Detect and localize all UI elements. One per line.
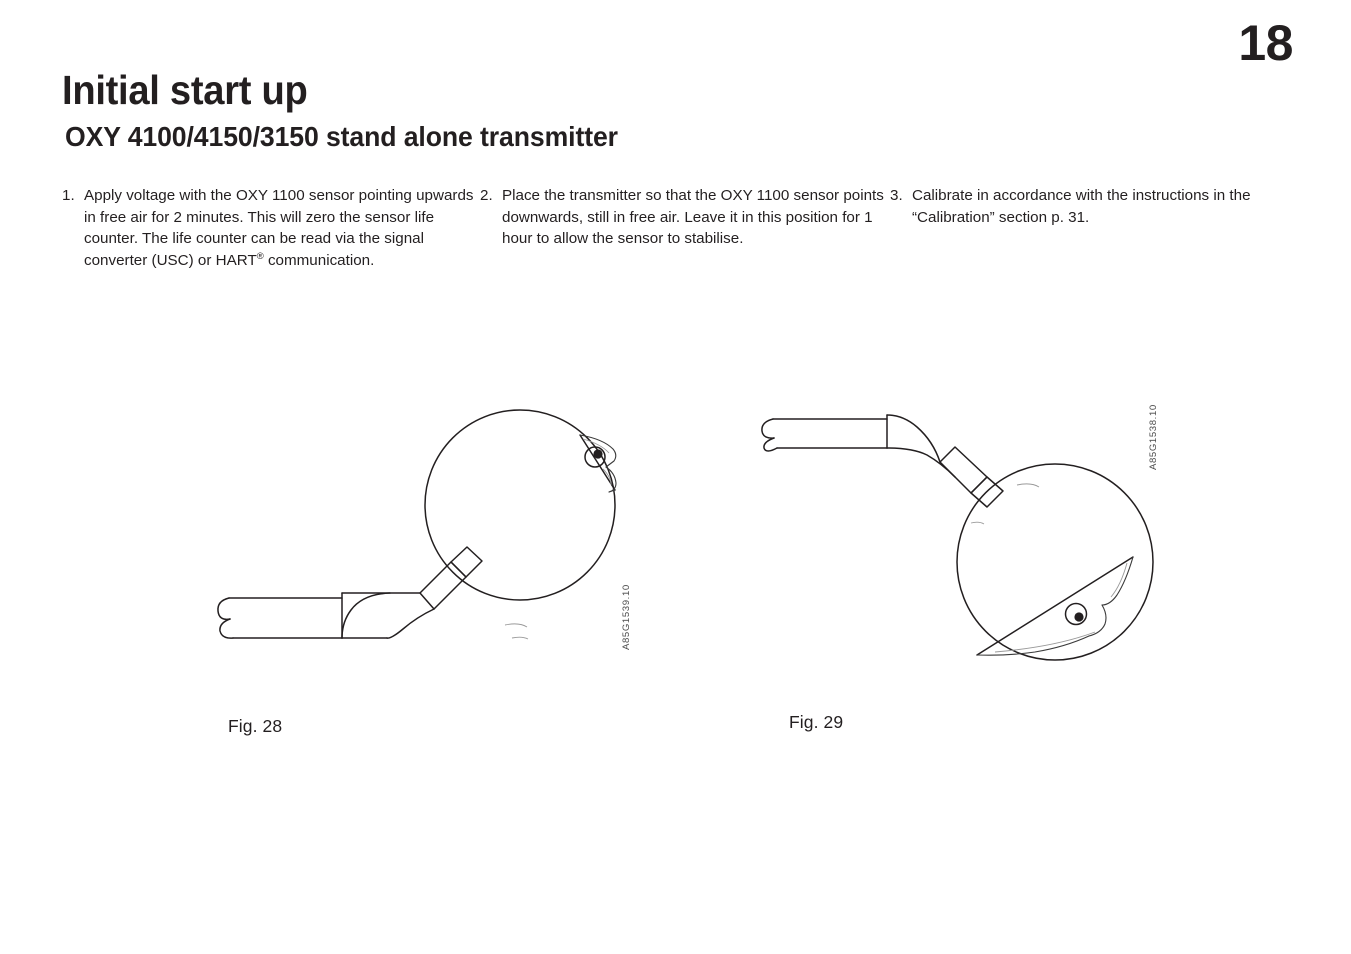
sensor-collar-lower xyxy=(1089,605,1106,636)
sensor-port-dot xyxy=(1074,612,1083,621)
elbow-outer-wall xyxy=(342,593,420,638)
tube-end-bore-upper xyxy=(218,598,230,619)
figure-28-caption: Fig. 28 xyxy=(228,716,282,737)
transmitter-sensor-up-illustration xyxy=(205,395,635,665)
document-page: 18 Initial start up OXY 4100/4150/3150 s… xyxy=(0,0,1351,954)
transmitter-sphere xyxy=(425,410,615,600)
coupling-flange xyxy=(451,547,482,577)
transmitter-sensor-down-illustration xyxy=(735,405,1165,675)
page-title: Initial start up xyxy=(62,70,1085,112)
figure-28-drawing xyxy=(205,395,635,665)
drawing-code-fig-28: A85G1539.10 xyxy=(621,584,632,650)
instruction-step-3: 3. Calibrate in accordance with the inst… xyxy=(890,185,1290,271)
step-text: Calibrate in accordance with the instruc… xyxy=(912,185,1290,228)
elbow-collar xyxy=(420,562,466,609)
figure-29-caption: Fig. 29 xyxy=(789,712,843,733)
body-shading-a xyxy=(505,624,527,627)
page-subtitle: OXY 4100/4150/3150 stand alone transmitt… xyxy=(65,122,1107,151)
figure-29-drawing xyxy=(735,405,1165,675)
tube-end-bore-lower xyxy=(764,438,777,451)
step-number: 1. xyxy=(62,185,84,207)
step-text: Place the transmitter so that the OXY 11… xyxy=(502,185,890,250)
tube-end-bore-upper xyxy=(762,419,774,438)
registered-trademark-icon: ® xyxy=(257,251,264,262)
body-shading-a xyxy=(1017,484,1039,487)
sensor-facet-edge xyxy=(977,557,1133,655)
page-number: 18 xyxy=(1238,18,1293,68)
drawing-code-fig-29: A85G1538.10 xyxy=(1148,404,1159,470)
body-shading-b xyxy=(512,637,528,639)
step-text-part-b: communication. xyxy=(264,252,375,269)
transmitter-sphere xyxy=(957,464,1153,660)
instruction-list: 1. Apply voltage with the OXY 1100 senso… xyxy=(62,185,1292,271)
elbow-outer-wall xyxy=(887,415,940,462)
elbow-inner-wall xyxy=(887,448,955,477)
instruction-step-2: 2. Place the transmitter so that the OXY… xyxy=(480,185,890,271)
instruction-step-1: 1. Apply voltage with the OXY 1100 senso… xyxy=(62,185,480,271)
body-shading-b xyxy=(971,522,984,524)
elbow-inner-wall xyxy=(387,609,434,638)
sensor-port-dot xyxy=(593,449,602,458)
step-number: 2. xyxy=(480,185,502,207)
step-text: Apply voltage with the OXY 1100 sensor p… xyxy=(84,185,480,271)
sensor-collar-right xyxy=(1102,557,1133,605)
sensor-facet-edge xyxy=(580,435,615,490)
tube-end-bore-lower xyxy=(220,619,233,638)
step-number: 3. xyxy=(890,185,912,207)
page-title-block: Initial start up OXY 4100/4150/3150 stan… xyxy=(62,70,1162,151)
